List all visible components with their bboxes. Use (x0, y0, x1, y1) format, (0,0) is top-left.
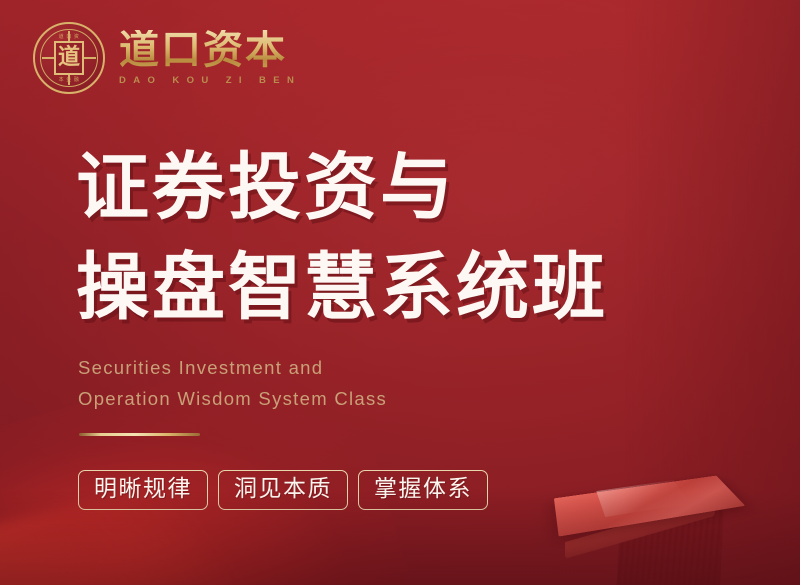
badge-zhang-wo-ti-xi: 掌握体系 (358, 470, 488, 510)
3d-slab-podium-icon (540, 435, 800, 585)
emblem-micro-text-top: 道 口 资 (59, 33, 80, 40)
chinese-coin-emblem-icon: 道 口 资 本 金 融 道 (33, 22, 105, 94)
emblem-center-square: 道 (54, 41, 84, 75)
feature-badge-group: 明晰规律 洞见本质 掌握体系 (78, 470, 488, 510)
badge-ming-xi-gui-lv: 明晰规律 (78, 470, 208, 510)
gold-divider (79, 433, 200, 436)
title-line-2: 操盘智慧系统班 (76, 239, 608, 337)
subtitle-line-1: Securities Investment and (78, 352, 387, 383)
brand-name-chinese: 道口资本 (119, 30, 301, 72)
title-line-1: 证券投资与 (76, 139, 608, 237)
page-subtitle: Securities Investment and Operation Wisd… (78, 352, 387, 414)
emblem-center-character: 道 (58, 47, 80, 69)
badge-dong-jian-ben-zhi: 洞见本质 (218, 470, 348, 510)
subtitle-line-2: Operation Wisdom System Class (78, 383, 387, 414)
page-title: 证券投资与 操盘智慧系统班 (76, 139, 608, 337)
promo-poster: 道 口 资 本 金 融 道 道口资本 DAO KOU ZI BEN 证券投资与 … (0, 0, 800, 585)
emblem-micro-text-bottom: 本 金 融 (59, 76, 80, 83)
brand-name-pinyin: DAO KOU ZI BEN (119, 75, 301, 86)
brand-logo: 道 口 资 本 金 融 道 道口资本 DAO KOU ZI BEN (33, 22, 301, 94)
brand-text-block: 道口资本 DAO KOU ZI BEN (119, 30, 301, 86)
